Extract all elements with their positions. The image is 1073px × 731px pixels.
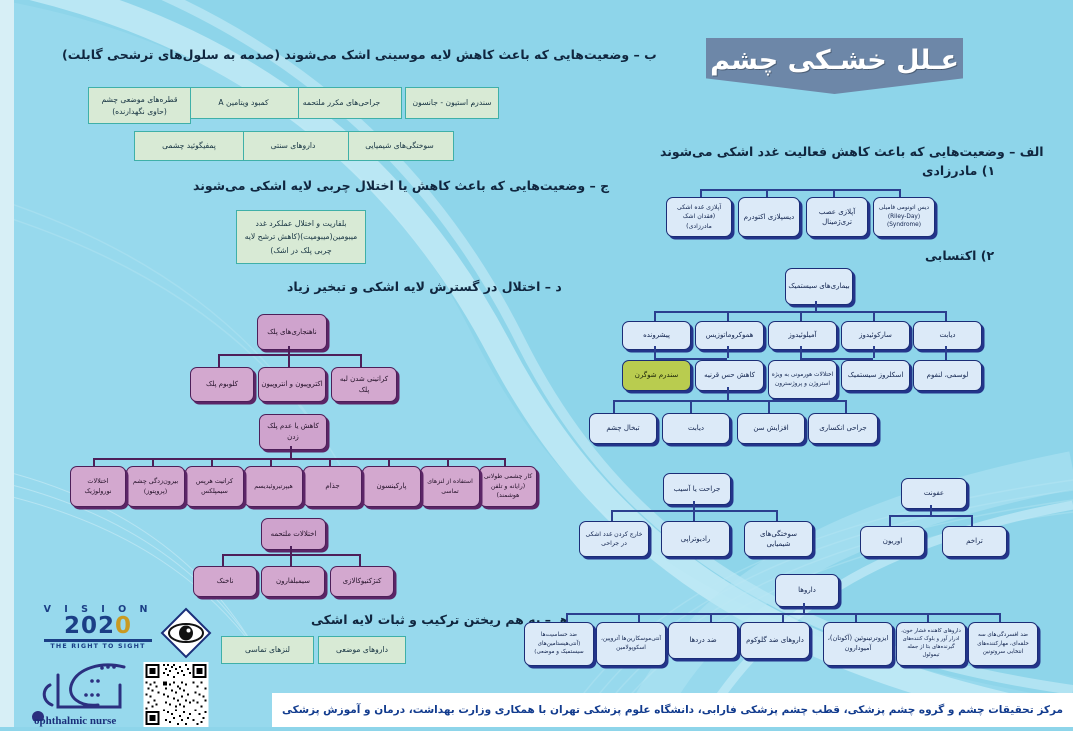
vision-logo-tagline: THE RIGHT TO SIGHT [38, 643, 158, 650]
connector-vertical [930, 505, 932, 515]
connector-vertical [288, 354, 290, 367]
drug-antihypertensives: داروهای کاهنده فشار خون، ادرار آور و بلو… [896, 622, 966, 666]
cornea-child-refractive-surgery: جراحی انکساری [808, 413, 878, 444]
dal-blink-child-contact-lens-use: استفاده از لنزهای تماسی [420, 466, 480, 507]
jim-box-blepharitis-meibomian: بلفاریت و اختلال عملکرد غدد میبومین(میبو… [236, 210, 366, 264]
section-alef-sub2: ۲) اکتسابی [925, 248, 994, 263]
connector-vertical [727, 387, 729, 400]
systemic-l2-leukemia-lymphoma: لوسمی، لنفوم [913, 360, 982, 391]
congenital-riley-day: دیس اتونومی فامیلی (Riley-Day) (Syndrome… [873, 197, 935, 237]
systemic-l2-sjogren-syndrome: سندرم شوگرن [622, 360, 691, 391]
connector-vertical [638, 613, 640, 622]
connector-vertical [776, 510, 778, 521]
dal-blink-child-neurologic-disorders: اختلالات نورولوژیک [70, 466, 126, 507]
be-box-ocular-pemphigoid: پمفیگوئید چشمی [134, 131, 244, 161]
cornea-child-aging: افزایش سن [737, 413, 805, 444]
connector-vertical [845, 400, 847, 413]
congenital-ectodermal-dysplasia: دیسپلازی اکتودرم [738, 197, 800, 237]
connector-vertical [693, 501, 695, 510]
connector-vertical [359, 554, 361, 566]
connector-vertical [999, 613, 1001, 622]
connector-vertical [654, 346, 656, 358]
dal-blink-child-proptosis: بیرون‌زدگی چشم (پروپتوز) [126, 466, 185, 507]
dal-conjunctiva-child-pterygium: ناخنک [193, 566, 257, 597]
cornea-child-ocular-herpes: تبخال چشم [589, 413, 657, 444]
connector-vertical [727, 346, 729, 358]
cornea-child-diabetes: دیابت [662, 413, 730, 444]
vision-logo-rule [44, 639, 152, 642]
connector-horizontal [889, 515, 973, 517]
footer-text: مرکز تحقیقات چشم و گروه چشم پزشکی، قطب چ… [282, 704, 1063, 716]
dal-conjunctiva-root: اختلالات ملتحمه [261, 518, 326, 550]
drug-analgesics: ضد دردها [668, 622, 738, 659]
connector-horizontal [93, 458, 505, 460]
drug-isotretinoin-amiodarone: ایزوترتینوئین (آکوتان)، آمیودارون [823, 622, 893, 666]
dal-conjunctiva-child-symblepharon: سیمبلفارون [261, 566, 325, 597]
congenital-lacrimal-gland-aplasia: آپلازی غده اشکی (فقدان اشک مادرزادی) [666, 197, 732, 237]
section-dal-heading: د – اختلال در گسترش لایه اشکی و تبخیر زی… [287, 279, 562, 294]
systemic-l1-sarcoidosis: سارکوئیدوز [841, 321, 910, 350]
be-box-topical-eye-drops: قطره‌های موضعی چشم (حاوی نگهدارنده) [88, 87, 191, 124]
dal-blink-child-hyperthyroidism: هیپرتیروئیدیسم [244, 466, 303, 507]
connector-vertical [873, 346, 875, 358]
ophthalmic-nurse-label: ophthalmic nurse [34, 715, 116, 727]
connector-vertical [971, 515, 973, 526]
connector-vertical [727, 311, 729, 321]
he-box-contact-lenses: لنزهای تماسی [221, 636, 314, 664]
connector-vertical [800, 346, 802, 358]
connector-vertical [768, 400, 770, 413]
page-title: عـلل خشـکی چشم [710, 45, 959, 76]
poster-title-banner: عـلل خشـکی چشم [706, 38, 963, 94]
drug-antiglaucoma: داروهای ضد گلوکوم [740, 622, 810, 659]
connector-vertical [873, 311, 875, 321]
connector-vertical [803, 603, 805, 613]
connector-vertical [290, 446, 292, 458]
systemic-l2-hormonal-disorders: اختلالات هورمونی به ویژه استروژن و پروژس… [768, 360, 837, 399]
footer-banner: مرکز تحقیقات چشم و گروه چشم پزشکی، قطب چ… [272, 693, 1073, 727]
dal-blink-child-parkinson: پارکینسون [362, 466, 421, 507]
be-box-repeat-conjunctival-surgery: جراحی‌های مکرر ملتحمه [281, 87, 402, 119]
be-box-traditional-drugs: داروهای سنتی [237, 131, 349, 161]
be-box-chemical-burns: سوختگی‌های شیمیایی [345, 131, 454, 161]
dal-eyelid-child-ectropion-entropion: اکتروپیون و انتروپیون [258, 367, 326, 402]
connector-vertical [693, 510, 695, 521]
connector-vertical [855, 613, 857, 622]
connector-vertical [782, 613, 784, 622]
systemic-l2-systemic-sclerosis: اسکلروز سیستمیک [841, 360, 910, 391]
dal-blink-child-leprosy: جذام [303, 466, 362, 507]
connector-horizontal [218, 354, 361, 356]
systemic-l1-diabetes: دیابت [913, 321, 982, 350]
section-jim-heading: ج – وضعیت‌هایی که باعث کاهش یا اختلال چر… [193, 178, 609, 193]
systemic-l1-progressive: پیشرونده [622, 321, 691, 350]
connector-vertical [815, 301, 817, 311]
connector-vertical [218, 354, 220, 367]
connector-vertical [613, 400, 615, 413]
ophthalmic-nurse-logo: ophthalmic nurse [28, 655, 146, 727]
connector-vertical [690, 400, 692, 413]
be-box-vitamin-a-deficiency: کمبود ویتامین A [188, 87, 299, 119]
connector-vertical [889, 515, 891, 526]
dal-blink-root: کاهش یا عدم پلک زدن [259, 414, 327, 450]
connector-vertical [360, 354, 362, 367]
drug-antiallergics: ضد حساسیت‌ها (آنتی‌هیستامین‌های سیستمیک … [524, 622, 594, 666]
connector-vertical [611, 510, 613, 521]
connector-vertical [290, 554, 292, 566]
dal-blink-child-hsv-keratitis: کراتیت هرپس سیمپلکس [185, 466, 244, 507]
systemic-root: بیماری‌های سیستمیک [785, 268, 853, 305]
infection-child-mumps: اوریون [860, 526, 925, 557]
section-alef-heading: الف – وضعیت‌هایی که باعث کاهش فعالیت غدد… [660, 144, 1044, 159]
dal-eyelid-root: ناهنجاری‌های پلک [257, 314, 327, 350]
he-box-topical-drugs: داروهای موضعی [318, 636, 406, 664]
systemic-l1-amyloidosis: آمیلوئیدوز [768, 321, 837, 350]
connector-vertical [945, 346, 947, 358]
trauma-child-lacrimal-gland-excision: خارج کردن غدد اشکی در جراحی [579, 521, 649, 557]
congenital-trigeminal-aplasia: آپلازی عصب تری‌ژمینال [806, 197, 868, 237]
be-box-steven-johnson: سندرم استیون - جانسون [405, 87, 499, 119]
connector-horizontal [613, 400, 846, 402]
section-be-heading: ب – وضعیت‌هایی که باعث کاهش لایه موسینی … [62, 47, 657, 62]
trauma-child-chemical-burns: سوختگی‌های شیمیایی [744, 521, 813, 557]
dal-blink-child-screen-time: کار چشمی طولانی (رایانه و تلفن هوشمند) [479, 466, 537, 507]
vision-logo-number: 2020 [38, 615, 158, 638]
connector-vertical [927, 613, 929, 622]
trauma-root: جراحت یا آسیب [663, 473, 731, 505]
connector-vertical [710, 613, 712, 622]
drugs-root: داروها [775, 574, 839, 607]
section-alef-sub1: ۱) مادرزادی [922, 163, 995, 178]
connector-vertical [222, 554, 224, 566]
infection-root: عفونت [901, 478, 967, 509]
connector-vertical [945, 311, 947, 321]
infection-child-trachoma: تراخم [942, 526, 1007, 557]
qr-code-icon[interactable] [140, 662, 212, 727]
connector-vertical [800, 311, 802, 321]
connector-vertical [654, 311, 656, 321]
dal-eyelid-child-coloboma: کلوبوم پلک [190, 367, 254, 402]
systemic-l2-reduced-corneal-sensation: کاهش حس قرنیه [695, 360, 764, 391]
eye-diamond-icon [160, 607, 212, 659]
vision-2020-logo: V I S I O N 2020 THE RIGHT TO SIGHT [38, 604, 158, 652]
connector-horizontal [700, 189, 900, 191]
trauma-child-radiotherapy: رادیوتراپی [661, 521, 730, 557]
connector-vertical [566, 613, 568, 622]
drug-antimuscarinics: آنتی‌موسکارین‌ها آتروپین، اسکوپولامین [596, 622, 666, 666]
dal-eyelid-child-keratinization: کراتینی شدن لبه پلک [331, 367, 397, 402]
dal-conjunctiva-child-conjunctivochalasis: کنژکتیوکالازی [330, 566, 394, 597]
systemic-l1-hemochromatosis: هموکروماتوزیس [695, 321, 764, 350]
drug-antidepressants: ضد افسردگی‌های سه حلقه‌ای، مهارکننده‌های… [968, 622, 1038, 666]
